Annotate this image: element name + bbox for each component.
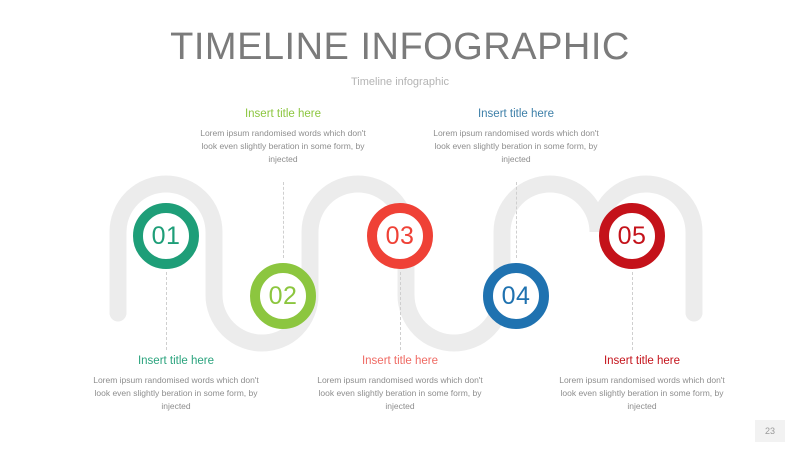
page-number-label: 23	[765, 426, 775, 436]
leader-line-05	[632, 272, 633, 350]
text-block-body: Lorem ipsum randomised words which don't…	[426, 127, 606, 167]
page-number-badge: 23	[755, 420, 785, 442]
text-block-bottom-03: Insert title here Lorem ipsum randomised…	[310, 355, 490, 413]
text-block-body: Lorem ipsum randomised words which don't…	[86, 374, 266, 414]
text-block-title: Insert title here	[86, 355, 266, 369]
node-number-01: 01	[152, 224, 181, 249]
text-block-title: Insert title here	[552, 355, 732, 369]
node-number-04: 04	[502, 284, 531, 309]
leader-line-02	[283, 182, 284, 258]
text-block-top-02: Insert title here Lorem ipsum randomised…	[193, 108, 373, 166]
leader-line-04	[516, 182, 517, 258]
slide-canvas: TIMELINE INFOGRAPHIC Timeline infographi…	[0, 0, 800, 450]
timeline-node-05[interactable]: 05	[599, 203, 665, 269]
text-block-top-04: Insert title here Lorem ipsum randomised…	[426, 108, 606, 166]
leader-line-01	[166, 272, 167, 350]
text-block-title: Insert title here	[310, 355, 490, 369]
timeline-node-01[interactable]: 01	[133, 203, 199, 269]
text-block-bottom-01: Insert title here Lorem ipsum randomised…	[86, 355, 266, 413]
text-block-bottom-05: Insert title here Lorem ipsum randomised…	[552, 355, 732, 413]
node-number-03: 03	[386, 224, 415, 249]
text-block-body: Lorem ipsum randomised words which don't…	[552, 374, 732, 414]
text-block-title: Insert title here	[426, 108, 606, 122]
node-number-02: 02	[269, 284, 298, 309]
timeline-node-03[interactable]: 03	[367, 203, 433, 269]
text-block-body: Lorem ipsum randomised words which don't…	[310, 374, 490, 414]
leader-line-03	[400, 272, 401, 350]
text-block-title: Insert title here	[193, 108, 373, 122]
timeline-node-04[interactable]: 04	[483, 263, 549, 329]
text-block-body: Lorem ipsum randomised words which don't…	[193, 127, 373, 167]
timeline-node-02[interactable]: 02	[250, 263, 316, 329]
node-number-05: 05	[618, 224, 647, 249]
